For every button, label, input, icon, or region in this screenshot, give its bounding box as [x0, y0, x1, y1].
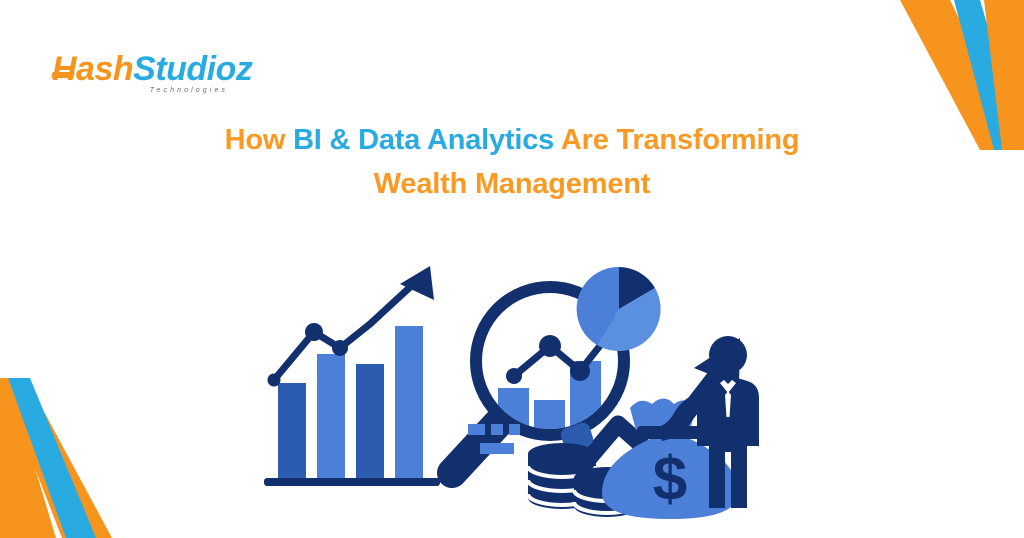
logo-tagline: Technologies	[52, 87, 230, 94]
page-title-line-2: Wealth Management	[0, 162, 1024, 206]
title-segment-how: How	[225, 124, 293, 156]
dash-bar	[480, 443, 514, 454]
bi-data-analytics-wealth-illustration: $	[262, 228, 782, 520]
pie-chart-icon	[577, 267, 661, 351]
dash-1	[468, 424, 485, 435]
logo-text-hash: Hash	[52, 50, 133, 88]
page-title-line-1: How BI & Data Analytics Are Transforming	[0, 118, 1024, 162]
logo-text-studioz: Studioz	[133, 50, 252, 88]
trend-point-3	[332, 340, 348, 356]
stripe-orange-outer	[0, 378, 112, 538]
chart-baseline	[264, 478, 440, 486]
dash-2	[491, 424, 503, 435]
trend-point-1	[268, 374, 281, 387]
dollar-sign-glyph: $	[653, 445, 687, 514]
banner: HashStudioz Technologies How BI & Data A…	[0, 0, 1024, 538]
page-title: How BI & Data Analytics Are Transforming…	[0, 118, 1024, 206]
title-segment-highlight: BI & Data Analytics	[293, 124, 554, 156]
logo-wordmark: HashStudioz	[52, 52, 230, 86]
bar-1	[278, 383, 306, 478]
bar-4	[395, 326, 423, 478]
bar-chart-icon	[264, 266, 440, 486]
bottom-left-stripes	[0, 378, 140, 538]
stripe-orange-inner	[0, 378, 56, 538]
dash-3	[509, 424, 520, 435]
inset-point-3	[570, 361, 590, 381]
title-segment-transforming: Are Transforming	[554, 124, 799, 156]
inset-point-2	[539, 335, 561, 357]
inset-point-1	[506, 368, 522, 384]
inset-bar-2	[534, 400, 565, 430]
hashstudioz-logo[interactable]: HashStudioz Technologies	[52, 52, 230, 98]
bar-3	[356, 364, 384, 478]
businessman-head	[709, 336, 747, 374]
stripe-blue	[8, 378, 96, 538]
logo-accent-bar	[51, 72, 74, 78]
trend-point-2	[305, 323, 323, 341]
bar-2	[317, 354, 345, 478]
